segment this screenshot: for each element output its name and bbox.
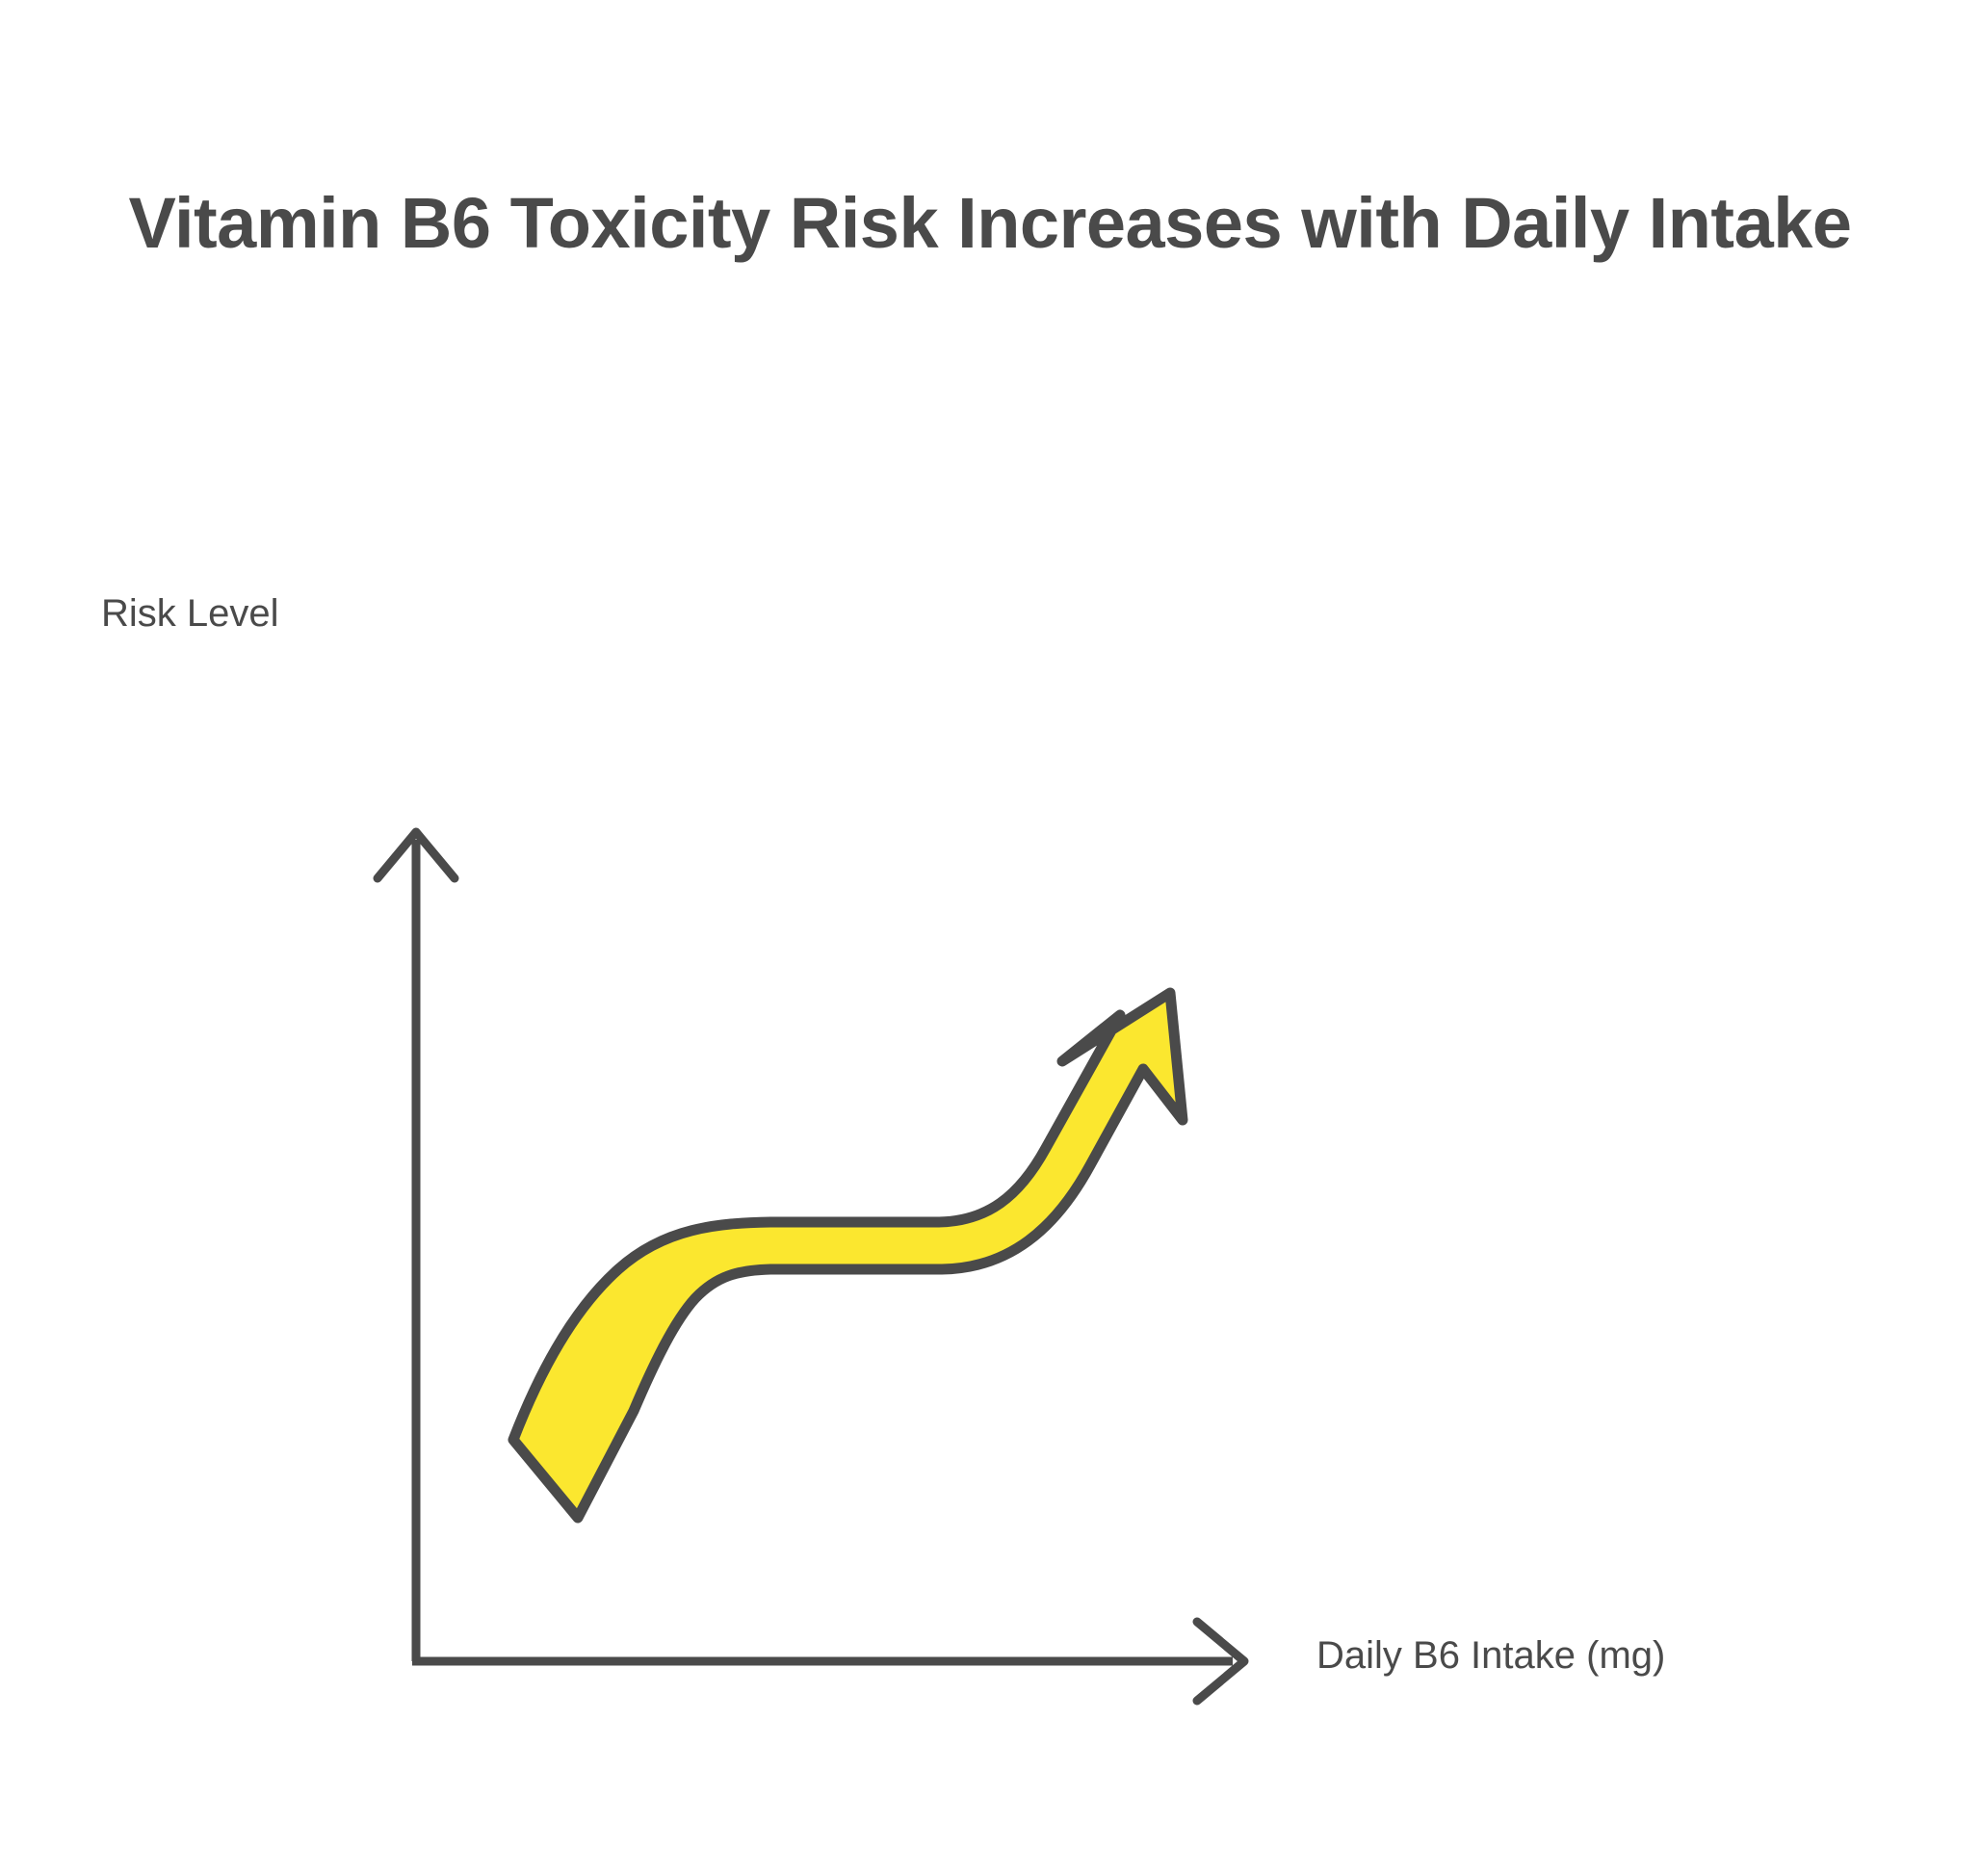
diagram-canvas: Vitamin B6 Toxicity Risk Increases with … (0, 0, 1980, 1876)
risk-trend-arrow (513, 993, 1183, 1518)
chart-graphic (0, 0, 1980, 1876)
